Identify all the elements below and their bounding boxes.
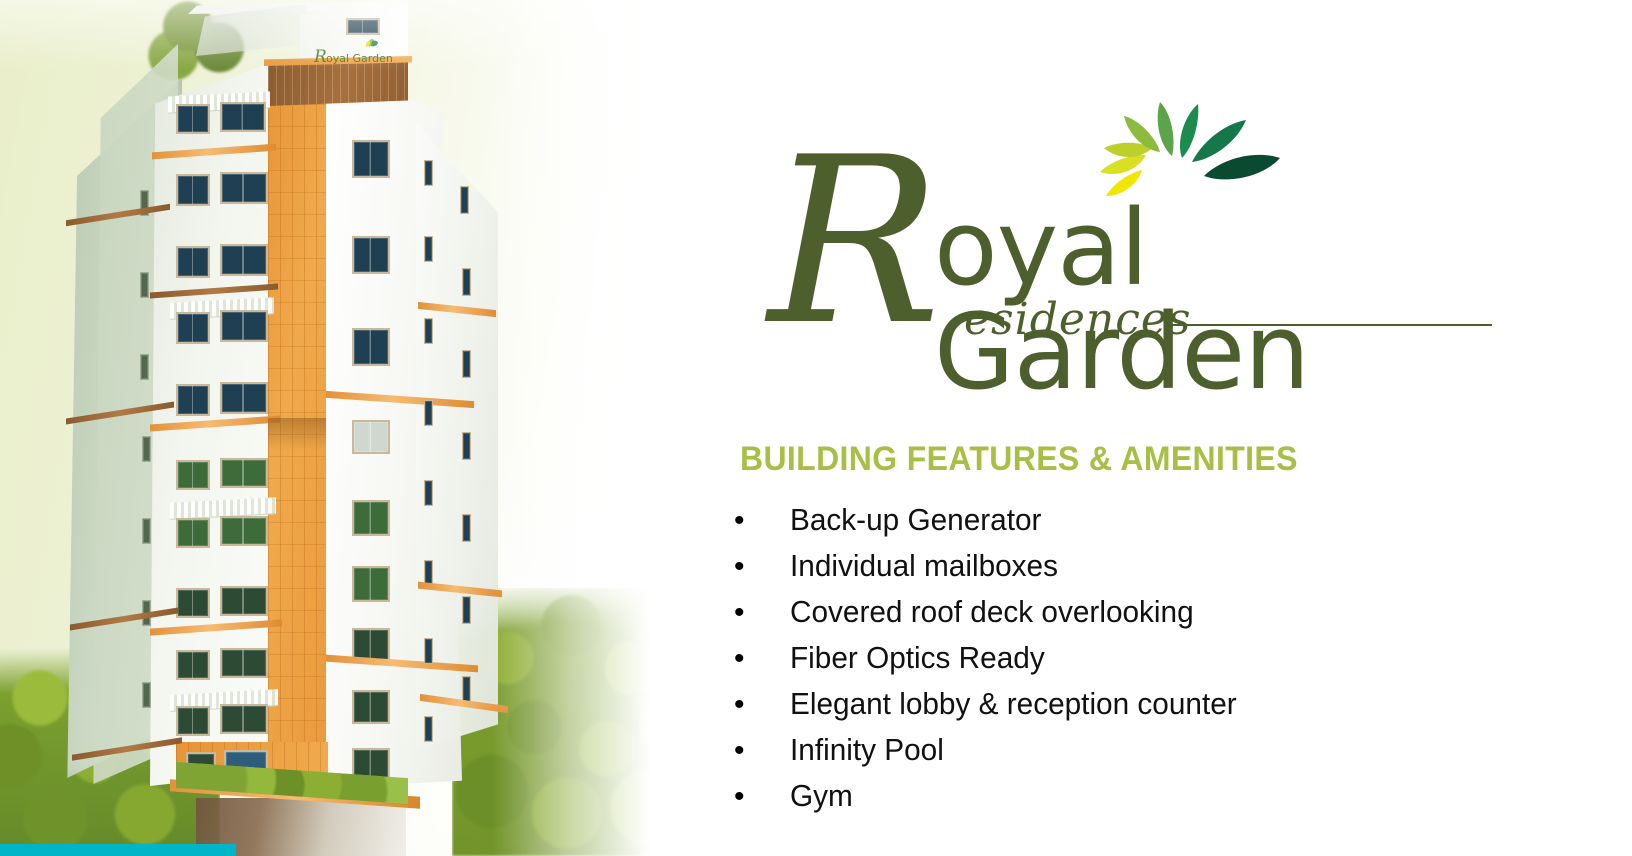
window [176, 246, 210, 278]
list-item-label: Back-up Generator [790, 502, 1041, 538]
list-item-label: Elegant lobby & reception counter [790, 686, 1237, 722]
bullet-icon: • [728, 782, 790, 812]
list-item-label: Infinity Pool [790, 732, 944, 768]
list-item-label: Gym [790, 778, 853, 814]
window [220, 648, 268, 678]
window [424, 638, 433, 664]
window [176, 588, 210, 618]
window [352, 328, 390, 366]
royal-garden-logo: R oyal Garden esidences [768, 100, 1498, 390]
bullet-icon: • [728, 552, 790, 582]
window [424, 318, 433, 344]
bullet-icon: • [728, 506, 790, 536]
window [220, 586, 268, 616]
window [220, 382, 268, 414]
content-panel: R oyal Garden esidences BUILDING FEATURE… [672, 0, 1632, 856]
window [140, 354, 149, 380]
window [424, 400, 433, 426]
window [220, 310, 268, 342]
photo-right-fade [492, 0, 672, 856]
window [220, 102, 266, 132]
window [140, 272, 149, 298]
list-item-label: Individual mailboxes [790, 548, 1058, 584]
window [176, 460, 210, 490]
window [424, 160, 433, 186]
window [176, 174, 210, 206]
logo-subwordmark: esidences [964, 298, 1192, 342]
list-item-label: Covered roof deck overlooking [790, 594, 1194, 630]
window [176, 518, 210, 548]
window [352, 690, 390, 724]
window [462, 350, 471, 378]
core-shadow [268, 418, 326, 450]
window [176, 104, 210, 134]
window [220, 172, 268, 204]
window [352, 566, 390, 602]
window [462, 268, 471, 296]
list-item: • Infinity Pool [728, 732, 1568, 778]
window [176, 312, 210, 344]
window [462, 596, 471, 624]
window [142, 682, 151, 708]
slide-root: R oyal Garden [0, 0, 1632, 856]
window [176, 384, 210, 416]
logo-divider-rule [1166, 324, 1492, 326]
list-item-label: Fiber Optics Ready [790, 640, 1045, 676]
list-item: • Covered roof deck overlooking [728, 594, 1568, 640]
window [352, 500, 390, 536]
list-item: • Fiber Optics Ready [728, 640, 1568, 686]
list-item: • Back-up Generator [728, 502, 1568, 548]
section-title: BUILDING FEATURES & AMENITIES [740, 440, 1298, 479]
window [462, 432, 471, 460]
window [352, 236, 390, 274]
bullet-icon: • [728, 644, 790, 674]
building-photo-panel: R oyal Garden [0, 0, 672, 856]
window [462, 514, 471, 542]
window [220, 516, 268, 546]
list-item: • Elegant lobby & reception counter [728, 686, 1568, 732]
list-item: • Individual mailboxes [728, 548, 1568, 594]
list-item: • Gym [728, 778, 1568, 824]
window [424, 236, 433, 262]
window [142, 436, 151, 462]
window [142, 518, 151, 544]
window [220, 704, 268, 734]
window [352, 140, 390, 178]
window [220, 244, 268, 276]
window [220, 458, 268, 488]
bullet-icon: • [728, 690, 790, 720]
features-list: • Back-up Generator • Individual mailbox… [728, 502, 1568, 824]
cyan-accent-bar [0, 844, 236, 856]
window [424, 716, 433, 742]
window [352, 420, 390, 454]
bullet-icon: • [728, 598, 790, 628]
window [176, 706, 210, 736]
bullet-icon: • [728, 736, 790, 766]
logo-initial-R: R [768, 128, 935, 358]
window [176, 650, 210, 680]
window [460, 186, 469, 214]
window [424, 480, 433, 506]
